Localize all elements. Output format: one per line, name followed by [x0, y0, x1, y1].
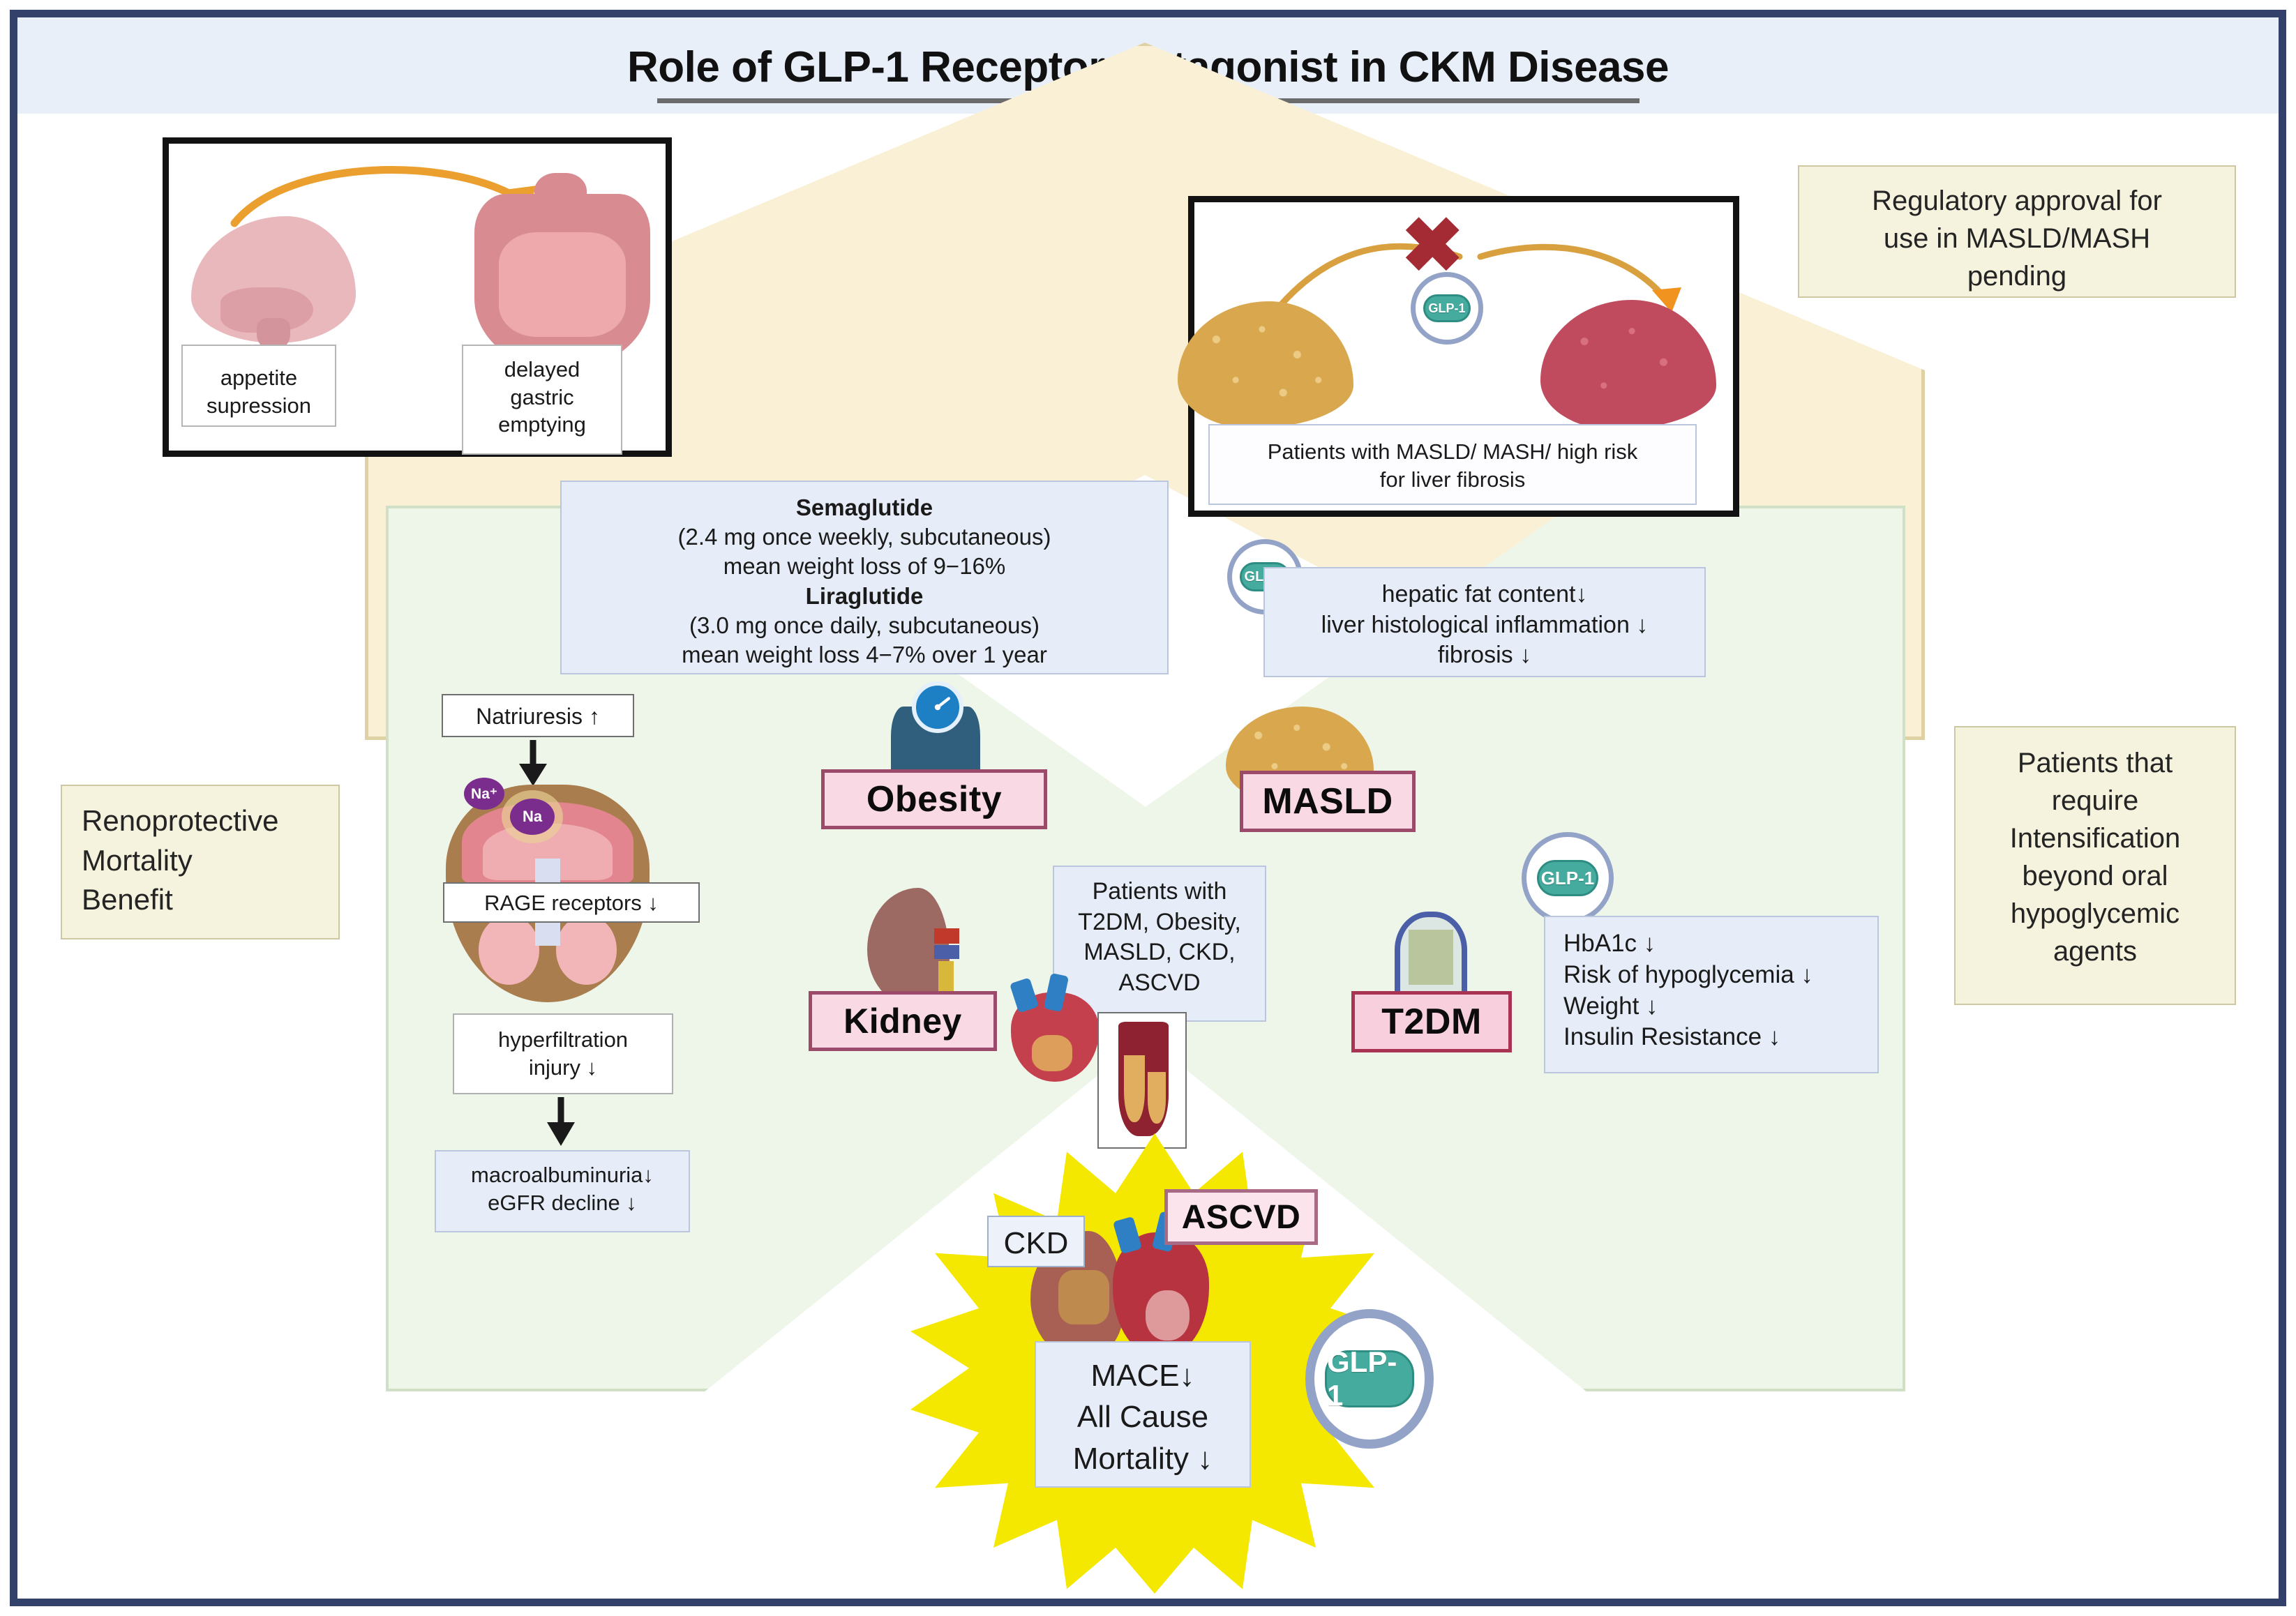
organ-tag-t2dm: T2DM [1351, 991, 1512, 1052]
liver-effect-1: hepatic fat content↓ [1382, 581, 1588, 607]
liver-patients-label: Patients with MASLD/ MASH/ high riskfor … [1268, 439, 1638, 492]
ascvd-label: ASCVD [1182, 1198, 1301, 1237]
t2dm-effect-3: Weight ↓ [1563, 992, 1658, 1020]
drug2-name: Liraglutide [806, 583, 924, 609]
drug2-dose: (3.0 mg once daily, subcutaneous) [689, 612, 1040, 638]
drug-dosing-box: Semaglutide (2.4 mg once weekly, subcuta… [560, 481, 1169, 674]
liver-effects-box: hepatic fat content↓ liver histological … [1263, 567, 1706, 677]
intensification-callout-label: Patients thatrequireIntensificationbeyon… [2010, 748, 2181, 967]
hyperfiltration-label: hyperfiltrationinjury ↓ [498, 1027, 628, 1080]
glp1-ring-t2dm: GLP-1 [1522, 832, 1614, 924]
arrow-down-1-icon [514, 740, 552, 787]
glp1-ring-liver: GLP-1 [1411, 272, 1483, 345]
regulatory-callout-label: Regulatory approval foruse in MASLD/MASH… [1872, 186, 2162, 292]
t2dm-effect-4: Insulin Resistance ↓ [1563, 1023, 1780, 1050]
natriuresis-box: Natriuresis ↑ [442, 694, 634, 737]
gastric-emptying-label: delayedgastricemptying [498, 357, 586, 437]
liver-effect-3: fibrosis ↓ [1438, 642, 1531, 668]
ckd-label: CKD [1004, 1226, 1069, 1260]
arrow-down-2-icon [542, 1097, 580, 1147]
intensification-callout: Patients thatrequireIntensificationbeyon… [1954, 726, 2236, 1005]
organ-tag-kidney: Kidney [809, 991, 997, 1051]
glp1-badge-t2dm: GLP-1 [1537, 860, 1598, 896]
glp1-ring-outcomes: GLP-1 [1305, 1309, 1434, 1449]
renoprotective-callout: RenoprotectiveMortalityBenefit [61, 785, 340, 939]
organ-tag-obesity: Obesity [821, 769, 1047, 829]
liver-effect-2: liver histological inflammation ↓ [1321, 612, 1649, 638]
red-x-icon: ✖ [1401, 208, 1464, 283]
intestine-icon [474, 194, 650, 368]
liver-patients-caption: Patients with MASLD/ MASH/ high riskfor … [1208, 424, 1697, 505]
center-patients-box: Patients withT2DM, Obesity,MASLD, CKD,AS… [1053, 866, 1266, 1022]
liver-panel: ✖ GLP-1 Patients with MASLD/ MASH/ high … [1188, 196, 1739, 517]
t2dm-effects-box: HbA1c ↓ Risk of hypoglycemia ↓ Weight ↓ … [1544, 916, 1879, 1073]
t2dm-effect-1: HbA1c ↓ [1563, 930, 1656, 957]
sodium-ion-icon-1: Na⁺ [464, 778, 504, 810]
glp1-badge-outcomes: GLP-1 [1325, 1350, 1414, 1407]
renoprotective-callout-label: RenoprotectiveMortalityBenefit [82, 804, 279, 916]
center-patients-label: Patients withT2DM, Obesity,MASLD, CKD,AS… [1078, 878, 1241, 996]
drug1-effect: mean weight loss of 9−16% [723, 553, 1006, 579]
diagram-frame: Role of GLP-1 Receptor Antagonist in CKM… [10, 10, 2286, 1606]
brain-gut-panel: appetitesupression delayedgastricemptyin… [163, 137, 672, 457]
rage-receptors-label: RAGE receptors ↓ [484, 891, 659, 915]
kidney-label: Kidney [843, 1001, 962, 1041]
t2dm-label: T2DM [1381, 1001, 1482, 1043]
sodium-ion-icon-2: Na [510, 799, 555, 835]
appetite-suppression-label: appetitesupression [207, 365, 311, 418]
drug1-dose: (2.4 mg once weekly, subcutaneous) [677, 524, 1051, 550]
gastric-emptying-box: delayedgastricemptying [462, 345, 622, 455]
glp1-badge: GLP-1 [1423, 294, 1471, 322]
outcome-1: MACE↓ [1090, 1359, 1194, 1393]
ckd-tag: CKD [987, 1216, 1085, 1267]
macroalbuminuria-label: macroalbuminuria↓eGFR decline ↓ [471, 1163, 654, 1215]
hyperfiltration-box: hyperfiltrationinjury ↓ [453, 1013, 673, 1094]
t2dm-effect-2: Risk of hypoglycemia ↓ [1563, 961, 1813, 988]
organ-tag-masld: MASLD [1240, 771, 1416, 832]
natriuresis-label: Natriuresis ↑ [476, 704, 600, 729]
obesity-label: Obesity [866, 778, 1002, 820]
drug2-effect: mean weight loss 4−7% over 1 year [682, 642, 1047, 667]
scale-dial-icon [912, 681, 963, 733]
rage-receptors-box: RAGE receptors ↓ [443, 882, 700, 923]
appetite-suppression-box: appetitesupression [181, 345, 336, 427]
atherosclerotic-artery-icon [1097, 1012, 1187, 1149]
masld-label: MASLD [1262, 780, 1393, 822]
drug1-name: Semaglutide [796, 494, 933, 520]
brain-icon [191, 216, 356, 343]
macroalbuminuria-box: macroalbuminuria↓eGFR decline ↓ [435, 1150, 690, 1232]
outcomes-box: MACE↓ All Cause Mortality ↓ [1035, 1341, 1251, 1488]
outcome-3: Mortality ↓ [1073, 1442, 1213, 1476]
regulatory-callout: Regulatory approval foruse in MASLD/MASH… [1798, 165, 2236, 298]
organ-tag-ascvd: ASCVD [1164, 1189, 1318, 1245]
outcome-2: All Cause [1077, 1400, 1208, 1434]
